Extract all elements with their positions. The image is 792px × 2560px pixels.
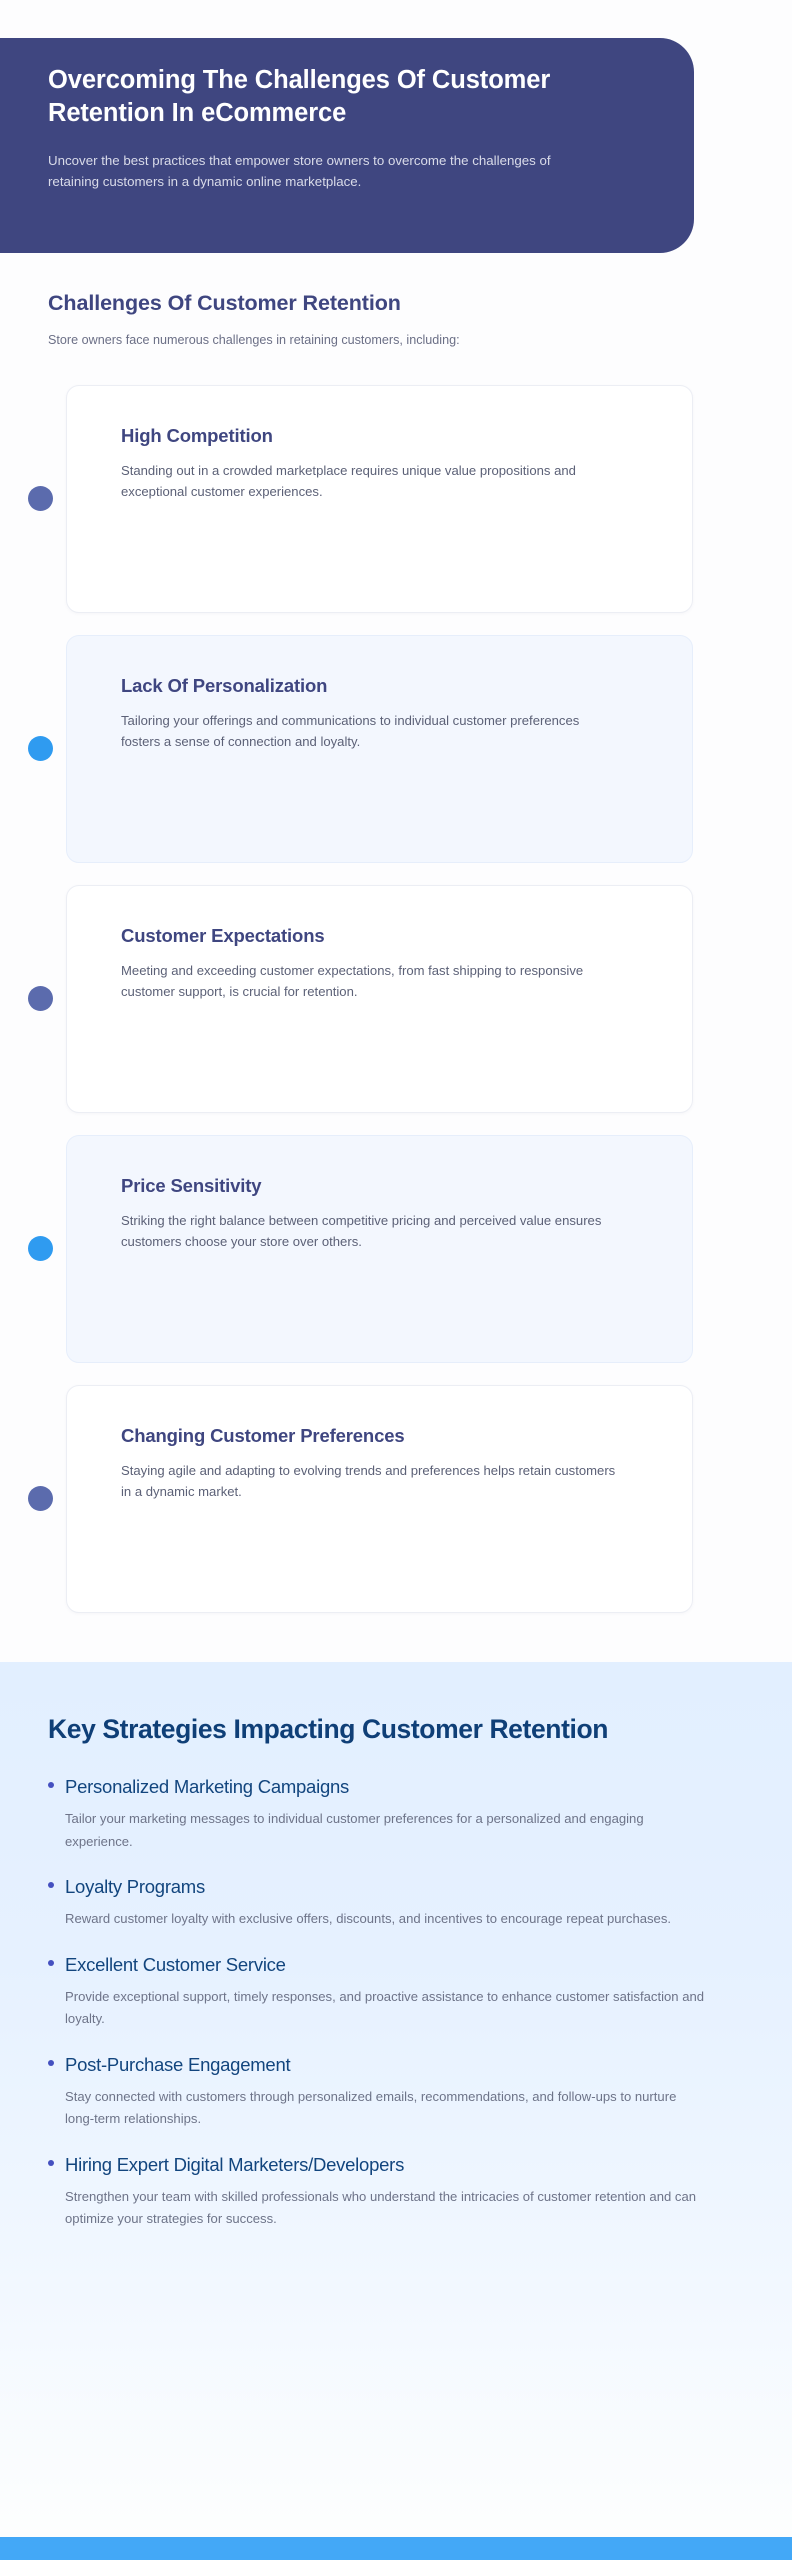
footer-accent-bar: [0, 2537, 792, 2560]
bullet-dot-icon: [48, 1882, 54, 1888]
strategy-heading-row: Hiring Expert Digital Marketers/Develope…: [48, 2153, 732, 2177]
challenge-card-content: Price Sensitivity Striking the right bal…: [67, 1136, 692, 1252]
challenge-card-row: High Competition Standing out in a crowd…: [0, 385, 792, 635]
challenge-card: Lack Of Personalization Tailoring your o…: [66, 635, 693, 863]
strategy-label: Hiring Expert Digital Marketers/Develope…: [65, 2153, 404, 2177]
challenge-marker-dot-icon: [28, 736, 53, 761]
strategy-label: Excellent Customer Service: [65, 1953, 286, 1977]
challenge-card: Changing Customer Preferences Staying ag…: [66, 1385, 693, 1613]
challenges-subtitle: Store owners face numerous challenges in…: [48, 331, 708, 349]
hero-title: Overcoming The Challenges Of Customer Re…: [48, 64, 608, 130]
challenge-card-content: Changing Customer Preferences Staying ag…: [67, 1386, 692, 1502]
challenge-card-title: Customer Expectations: [121, 924, 648, 948]
challenge-card-title: Changing Customer Preferences: [121, 1424, 648, 1448]
strategy-heading-row: Post-Purchase Engagement: [48, 2053, 732, 2077]
hero-banner: Overcoming The Challenges Of Customer Re…: [0, 38, 694, 253]
challenge-card-description: Staying agile and adapting to evolving t…: [121, 1461, 621, 1502]
strategy-label: Loyalty Programs: [65, 1875, 205, 1899]
challenge-marker-dot-icon: [28, 1486, 53, 1511]
challenge-card: Customer Expectations Meeting and exceed…: [66, 885, 693, 1113]
strategies-content: Key Strategies Impacting Customer Retent…: [0, 1662, 792, 2231]
hero-subtitle: Uncover the best practices that empower …: [48, 151, 568, 192]
challenge-card-description: Meeting and exceeding customer expectati…: [121, 961, 621, 1002]
bullet-dot-icon: [48, 2160, 54, 2166]
challenge-card: High Competition Standing out in a crowd…: [66, 385, 693, 613]
strategy-heading-row: Personalized Marketing Campaigns: [48, 1775, 732, 1799]
challenge-card-description: Striking the right balance between compe…: [121, 1211, 621, 1252]
strategy-description: Provide exceptional support, timely resp…: [65, 1986, 705, 2031]
challenge-card-list: High Competition Standing out in a crowd…: [0, 385, 792, 1635]
challenge-card-title: Lack Of Personalization: [121, 674, 648, 698]
challenge-card-description: Tailoring your offerings and communicati…: [121, 711, 621, 752]
bullet-dot-icon: [48, 1782, 54, 1788]
infographic-page: Overcoming The Challenges Of Customer Re…: [0, 0, 792, 2560]
strategy-description: Strengthen your team with skilled profes…: [65, 2186, 705, 2231]
bullet-dot-icon: [48, 2060, 54, 2066]
strategy-label: Post-Purchase Engagement: [65, 2053, 290, 2077]
challenge-card-row: Customer Expectations Meeting and exceed…: [0, 885, 792, 1135]
challenge-marker-dot-icon: [28, 986, 53, 1011]
strategy-label: Personalized Marketing Campaigns: [65, 1775, 349, 1799]
challenge-card-content: High Competition Standing out in a crowd…: [67, 386, 692, 502]
strategy-list-item: Post-Purchase Engagement Stay connected …: [48, 2053, 732, 2131]
strategy-description: Stay connected with customers through pe…: [65, 2086, 705, 2131]
strategy-description: Tailor your marketing messages to indivi…: [65, 1808, 705, 1853]
strategies-section: Key Strategies Impacting Customer Retent…: [0, 1662, 792, 2537]
challenge-card-content: Customer Expectations Meeting and exceed…: [67, 886, 692, 1002]
challenges-title: Challenges Of Customer Retention: [48, 290, 708, 317]
strategies-title: Key Strategies Impacting Customer Retent…: [48, 1712, 668, 1747]
strategy-heading-row: Loyalty Programs: [48, 1875, 732, 1899]
strategy-list-item: Loyalty Programs Reward customer loyalty…: [48, 1875, 732, 1931]
strategy-list-item: Excellent Customer Service Provide excep…: [48, 1953, 732, 2031]
challenge-card: Price Sensitivity Striking the right bal…: [66, 1135, 693, 1363]
strategy-list-item: Personalized Marketing Campaigns Tailor …: [48, 1775, 732, 1853]
challenge-card-row: Changing Customer Preferences Staying ag…: [0, 1385, 792, 1635]
challenge-marker-dot-icon: [28, 486, 53, 511]
strategy-list-item: Hiring Expert Digital Marketers/Develope…: [48, 2153, 732, 2231]
bullet-dot-icon: [48, 1960, 54, 1966]
challenges-section-header: Challenges Of Customer Retention Store o…: [48, 290, 708, 349]
hero-content: Overcoming The Challenges Of Customer Re…: [0, 38, 694, 192]
challenge-card-title: Price Sensitivity: [121, 1174, 648, 1198]
challenge-card-row: Lack Of Personalization Tailoring your o…: [0, 635, 792, 885]
challenge-card-content: Lack Of Personalization Tailoring your o…: [67, 636, 692, 752]
strategy-heading-row: Excellent Customer Service: [48, 1953, 732, 1977]
challenge-card-row: Price Sensitivity Striking the right bal…: [0, 1135, 792, 1385]
challenge-marker-dot-icon: [28, 1236, 53, 1261]
strategies-list: Personalized Marketing Campaigns Tailor …: [48, 1775, 732, 2231]
challenge-card-title: High Competition: [121, 424, 648, 448]
challenge-card-description: Standing out in a crowded marketplace re…: [121, 461, 621, 502]
strategy-description: Reward customer loyalty with exclusive o…: [65, 1908, 705, 1931]
